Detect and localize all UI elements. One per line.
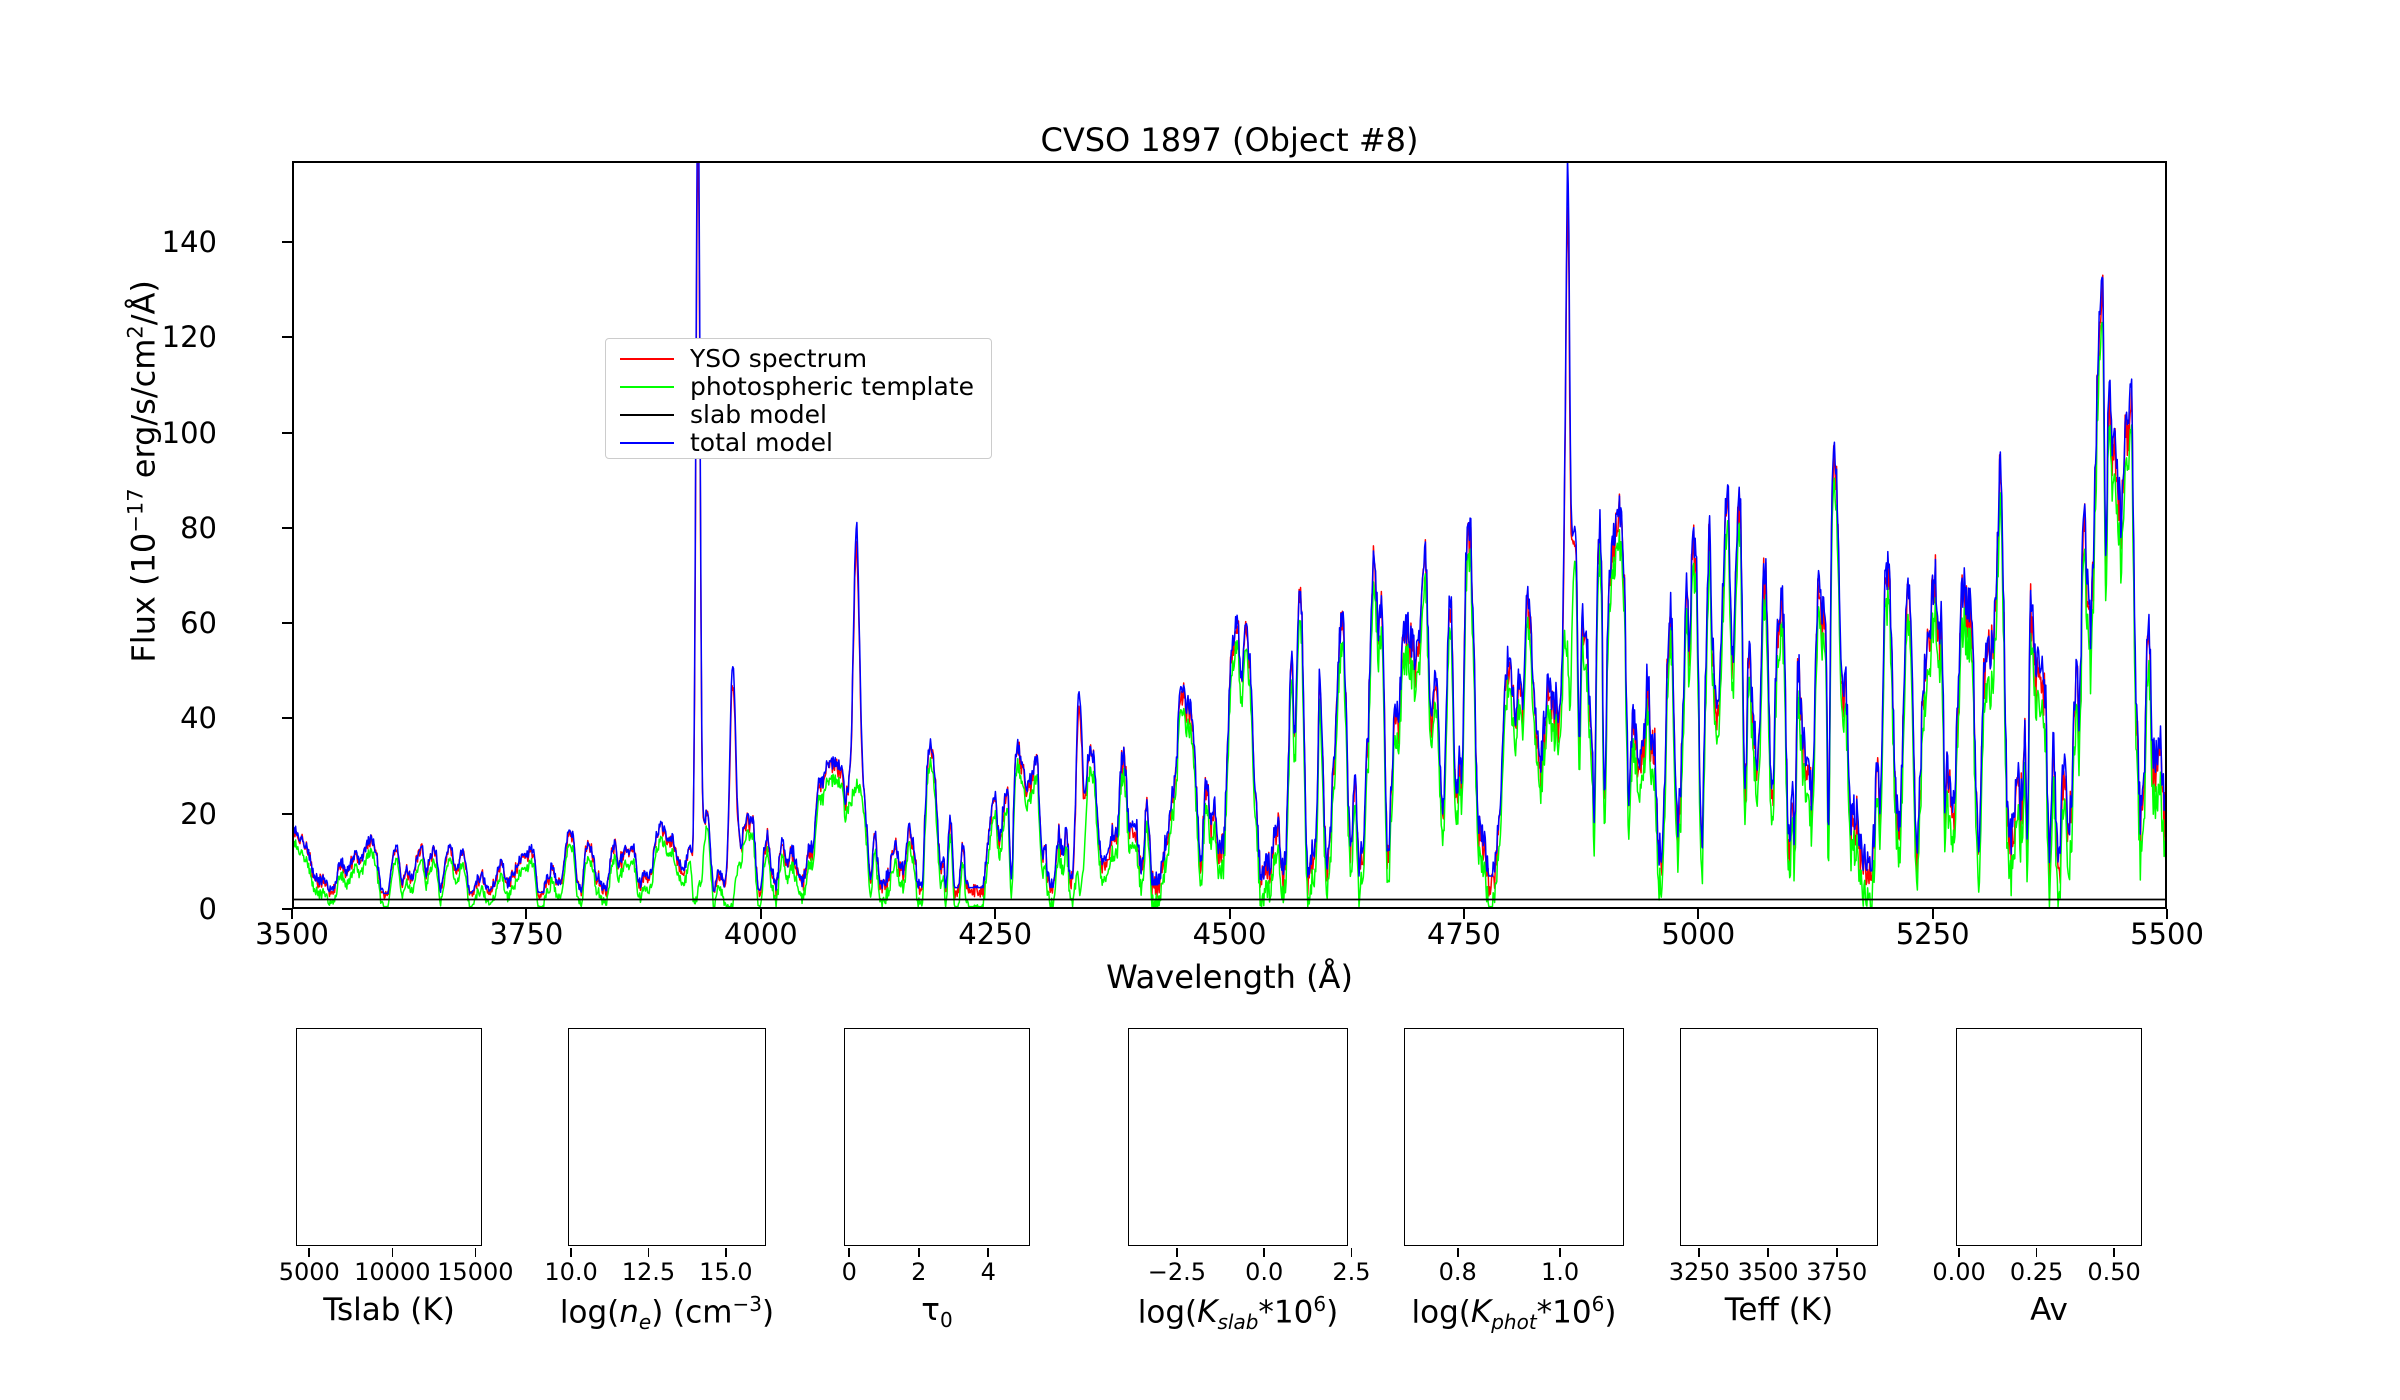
posterior-tick-mark (1457, 1248, 1459, 1257)
spectrum-plot: YSO spectrum photospheric template slab … (292, 161, 2167, 909)
posterior-axes-frame (1404, 1028, 1624, 1246)
spectrum-axes-frame (292, 161, 2167, 909)
x-tick-mark (1463, 909, 1465, 919)
x-tick-label: 3500 (212, 916, 372, 952)
legend-swatch-slab-model (620, 414, 674, 416)
posterior-label-av: Av (1866, 1292, 2232, 1328)
legend-label-slab-model: slab model (690, 401, 827, 429)
posterior-panel-tslab: 50001000015000 (296, 1028, 482, 1246)
legend-item: YSO spectrum (606, 345, 991, 373)
posterior-axes-frame (1680, 1028, 1878, 1246)
posterior-tick-layer: 50001000015000 (296, 1248, 482, 1288)
posterior-tick-mark (475, 1248, 477, 1257)
posterior-panel-teff: 325035003750 (1680, 1028, 1878, 1246)
y-tick-label: 100 (97, 416, 217, 450)
posterior-tick-layer: 10.012.515.0 (568, 1248, 766, 1288)
posterior-panel-log_kphot: 0.81.0 (1404, 1028, 1624, 1246)
posterior-tick-mark (1351, 1248, 1353, 1257)
posterior-tick-mark (987, 1248, 989, 1257)
y-tick-mark (282, 241, 292, 243)
x-tick-mark (994, 909, 996, 919)
x-tick-mark (1697, 909, 1699, 919)
posterior-tick-layer: −2.50.02.5 (1128, 1248, 1348, 1288)
legend-label-total-model: total model (690, 429, 833, 457)
figure-canvas: CVSO 1897 (Object #8) Flux (10−17 erg/s/… (0, 0, 2400, 1400)
y-tick-mark (282, 527, 292, 529)
y-tick-label: 20 (97, 797, 217, 831)
legend-swatch-photospheric-template (620, 386, 674, 388)
y-tick-label: 120 (97, 320, 217, 354)
posterior-tick-mark (1958, 1248, 1960, 1257)
legend-item: total model (606, 429, 991, 457)
posterior-tick-mark (1559, 1248, 1561, 1257)
posterior-axes-frame (568, 1028, 766, 1246)
x-tick-label: 3750 (446, 916, 606, 952)
posterior-axes-frame (296, 1028, 482, 1246)
x-axis-label: Wavelength (Å) (292, 958, 2167, 996)
posterior-panel-av: 0.000.250.50 (1956, 1028, 2142, 1246)
posterior-tick-mark (1263, 1248, 1265, 1257)
y-tick-mark (282, 622, 292, 624)
posterior-tick-label: 4 (903, 1258, 1073, 1286)
posterior-tick-mark (2036, 1248, 2038, 1257)
posterior-tick-mark (648, 1248, 650, 1257)
y-tick-label: 60 (97, 606, 217, 640)
y-tick-mark (282, 717, 292, 719)
legend-label-photospheric-template: photospheric template (690, 373, 974, 401)
posterior-tick-mark (2113, 1248, 2115, 1257)
posterior-tick-mark (1767, 1248, 1769, 1257)
x-tick-label: 5000 (1618, 916, 1778, 952)
legend-item: slab model (606, 401, 991, 429)
posterior-axes-frame (1128, 1028, 1348, 1246)
posterior-tick-mark (1176, 1248, 1178, 1257)
posterior-panel-log_kslab: −2.50.02.5 (1128, 1028, 1348, 1246)
x-tick-label: 4750 (1384, 916, 1544, 952)
x-tick-label: 4000 (681, 916, 841, 952)
y-tick-mark (282, 432, 292, 434)
posterior-tick-mark (725, 1248, 727, 1257)
posterior-tick-mark (1698, 1248, 1700, 1257)
x-tick-mark (525, 909, 527, 919)
x-tick-label: 5500 (2087, 916, 2247, 952)
posterior-tick-mark (918, 1248, 920, 1257)
x-tick-mark (2166, 909, 2168, 919)
x-tick-mark (1229, 909, 1231, 919)
y-tick-label: 140 (97, 225, 217, 259)
y-tick-label: 80 (97, 511, 217, 545)
page-title: CVSO 1897 (Object #8) (292, 118, 2167, 162)
posterior-tick-mark (1836, 1248, 1838, 1257)
posterior-axes-frame (1956, 1028, 2142, 1246)
posterior-tick-mark (848, 1248, 850, 1257)
legend: YSO spectrum photospheric template slab … (605, 338, 992, 459)
posterior-tick-layer: 325035003750 (1680, 1248, 1878, 1288)
posterior-tick-label: 0.50 (2029, 1258, 2199, 1286)
y-tick-label: 40 (97, 701, 217, 735)
posterior-tick-mark (308, 1248, 310, 1257)
legend-item: photospheric template (606, 373, 991, 401)
legend-label-yso-spectrum: YSO spectrum (690, 345, 867, 373)
x-tick-mark (1932, 909, 1934, 919)
posterior-tick-layer: 0.000.250.50 (1956, 1248, 2142, 1288)
x-tick-label: 5250 (1853, 916, 2013, 952)
y-tick-mark (282, 813, 292, 815)
x-tick-mark (760, 909, 762, 919)
y-tick-label: 0 (97, 892, 217, 926)
legend-swatch-yso-spectrum (620, 358, 674, 360)
posterior-tick-layer: 024 (844, 1248, 1030, 1288)
posterior-tick-mark (570, 1248, 572, 1257)
posterior-panel-tau0: 024 (844, 1028, 1030, 1246)
posterior-tick-mark (392, 1248, 394, 1257)
x-tick-label: 4500 (1150, 916, 1310, 952)
posterior-panel-log_ne: 10.012.515.0 (568, 1028, 766, 1246)
y-tick-mark (282, 336, 292, 338)
x-tick-mark (291, 909, 293, 919)
legend-swatch-total-model (620, 442, 674, 444)
posterior-tick-layer: 0.81.0 (1404, 1248, 1624, 1288)
posterior-axes-frame (844, 1028, 1030, 1246)
x-tick-label: 4250 (915, 916, 1075, 952)
